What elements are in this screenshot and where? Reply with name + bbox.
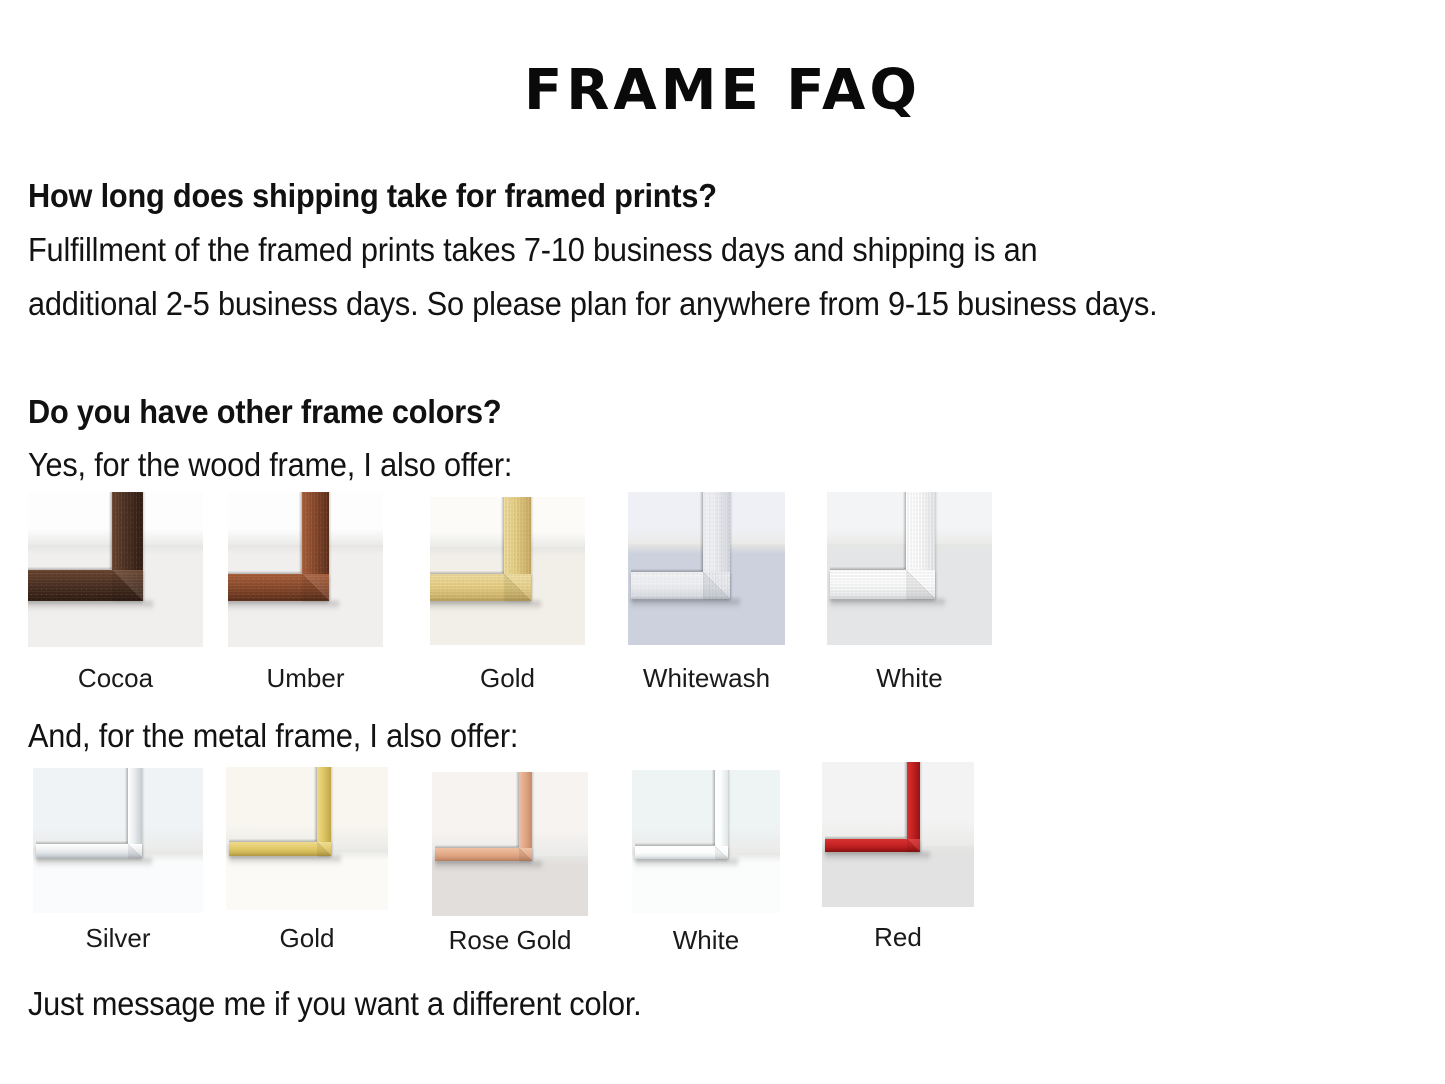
closing-line: Just message me if you want a different … (28, 985, 642, 1023)
metal-swatch-silver[interactable]: Silver (33, 768, 203, 913)
answer-1-line-2: additional 2-5 business days. So please … (28, 285, 1157, 323)
frame-inner-edge-shadow (516, 772, 519, 847)
swatch-caption: Red (822, 922, 974, 953)
frame-inner-edge-shadow (299, 492, 302, 573)
frame-inner-edge-shadow-bottom (36, 841, 128, 844)
frame-horizontal-leg (435, 848, 532, 861)
frame-inner-edge-shadow-bottom (228, 571, 302, 574)
frame-contact-shadow (28, 601, 153, 610)
swatch-caption: Gold (226, 923, 388, 954)
whitewash-grain-bottom (631, 572, 730, 599)
swatch-caption: White (827, 663, 992, 694)
wood-swatch-white[interactable]: White (827, 492, 992, 645)
frame-miter-joint (906, 570, 935, 599)
swatch-caption: Cocoa (28, 663, 203, 694)
page-title: FRAME FAQ (0, 60, 1445, 122)
frame-horizontal-leg (825, 839, 920, 852)
frame-inner-edge-shadow (904, 762, 907, 838)
wood-frame-intro: Yes, for the wood frame, I also offer: (28, 446, 512, 484)
swatch-caption: Rose Gold (432, 925, 588, 956)
swatch-caption: Silver (33, 923, 203, 954)
frame-inner-edge-shadow-bottom (229, 839, 317, 842)
metal-swatch-rose-gold[interactable]: Rose Gold (432, 772, 588, 916)
frame-inner-edge-shadow-bottom (28, 567, 112, 570)
frame-corner-photo (226, 767, 388, 910)
frame-contact-shadow (229, 856, 341, 865)
frame-inner-edge-shadow (125, 768, 128, 843)
frame-miter-joint (907, 839, 920, 852)
frame-horizontal-leg (36, 844, 142, 858)
frame-inner-edge-shadow (903, 492, 906, 569)
photo-wall (822, 762, 974, 846)
frame-corner-photo (822, 762, 974, 907)
question-1-heading: How long does shipping take for framed p… (28, 177, 717, 215)
frame-contact-shadow (830, 599, 945, 608)
frame-corner-photo (827, 492, 992, 645)
frame-inner-edge-shadow-bottom (635, 843, 715, 846)
photo-wall (226, 767, 388, 850)
wood-swatch-umber[interactable]: Umber (228, 492, 383, 647)
frame-miter-joint (302, 574, 329, 601)
frame-contact-shadow (435, 861, 542, 870)
frame-miter-joint (128, 844, 142, 858)
frame-inner-edge-shadow (712, 770, 715, 845)
frame-miter-joint (112, 570, 143, 601)
photo-wall (33, 768, 203, 852)
wood-swatch-whitewash[interactable]: Whitewash (628, 492, 785, 645)
frame-inner-edge-shadow-bottom (825, 836, 907, 839)
frame-corner-photo (33, 768, 203, 913)
answer-1-line-1: Fulfillment of the framed prints takes 7… (28, 231, 1037, 269)
frame-corner-photo (28, 492, 203, 647)
frame-inner-edge-shadow (109, 492, 112, 569)
metal-swatch-white[interactable]: White (632, 770, 780, 913)
frame-contact-shadow (631, 599, 740, 608)
metal-swatch-red[interactable]: Red (822, 762, 974, 907)
frame-corner-photo (628, 492, 785, 645)
frame-corner-photo (632, 770, 780, 913)
frame-corner-photo (432, 772, 588, 916)
frame-inner-edge-shadow-bottom (430, 571, 504, 574)
frame-miter-joint (317, 842, 331, 856)
frame-contact-shadow (635, 859, 738, 868)
swatch-caption: Gold (430, 663, 585, 694)
metal-swatch-gold[interactable]: Gold (226, 767, 388, 910)
wood-swatch-cocoa[interactable]: Cocoa (28, 492, 203, 647)
frame-miter-joint (715, 846, 728, 859)
frame-contact-shadow (430, 601, 541, 610)
swatch-caption: White (632, 925, 780, 956)
wood-swatch-gold[interactable]: Gold (430, 497, 585, 645)
frame-contact-shadow (228, 601, 339, 610)
frame-corner-photo (228, 492, 383, 647)
swatch-caption: Umber (228, 663, 383, 694)
photo-wall (432, 772, 588, 856)
swatch-caption: Whitewash (628, 663, 785, 694)
question-2-heading: Do you have other frame colors? (28, 393, 501, 431)
photo-wall (632, 770, 780, 853)
frame-inner-edge-shadow (314, 767, 317, 841)
frame-contact-shadow (825, 852, 930, 861)
metal-frame-intro: And, for the metal frame, I also offer: (28, 717, 518, 755)
frame-inner-edge-shadow-bottom (435, 845, 519, 848)
frame-inner-edge-shadow-bottom (830, 567, 906, 570)
frame-corner-photo (430, 497, 585, 645)
frame-horizontal-leg (229, 842, 331, 856)
frame-contact-shadow (36, 858, 152, 867)
frame-miter-joint (519, 848, 532, 861)
frame-inner-edge-shadow (501, 497, 504, 573)
frame-miter-joint (504, 574, 531, 601)
